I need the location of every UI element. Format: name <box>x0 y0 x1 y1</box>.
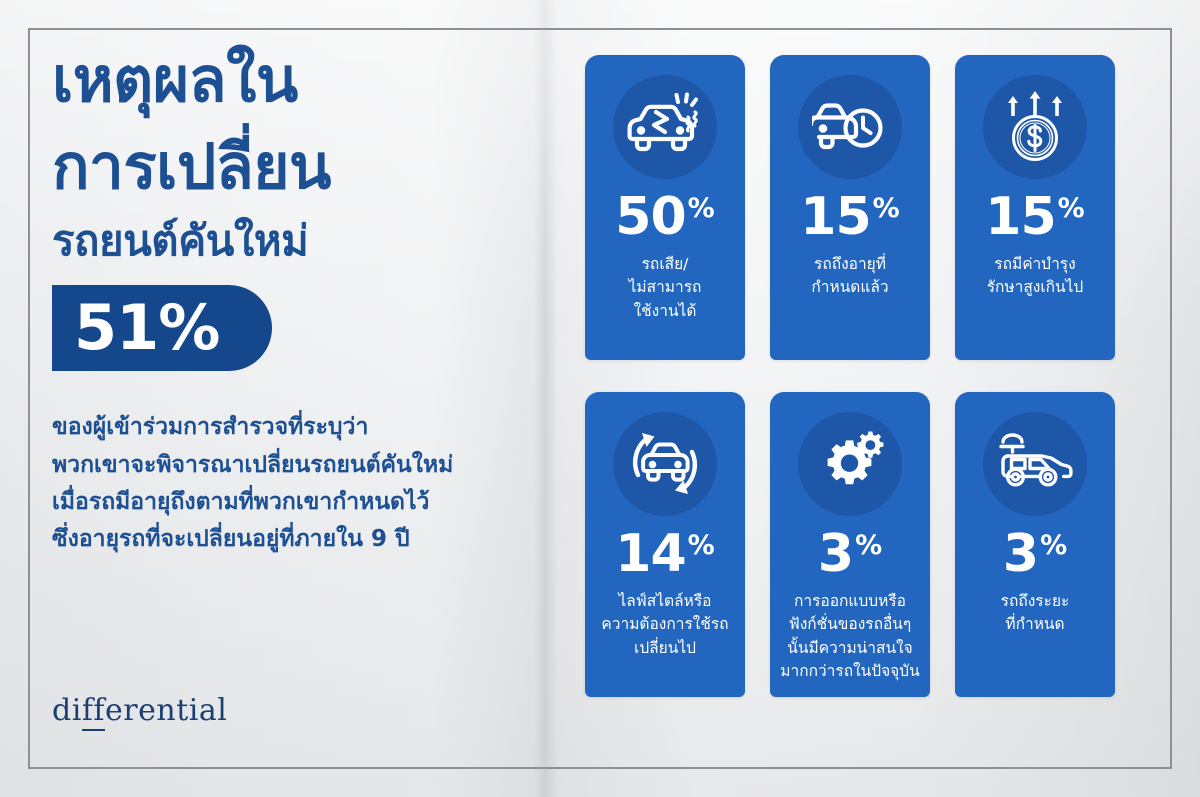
body-copy-line: พวกเขาจะพิจารณาเปลี่ยนรถยนต์คันใหม่ <box>52 447 522 484</box>
headline-line-1: เหตุผลใน <box>52 48 522 111</box>
stat-percent-symbol: % <box>1058 195 1085 222</box>
stat-caption: การออกแบบหรือ ฟังก์ชั่นของรถอื่นๆ นั้นมี… <box>774 590 925 683</box>
stat-caption: รถถึงอายุที่ กำหนดแล้ว <box>805 253 894 300</box>
body-copy-line: ซึ่งอายุรถที่จะเปลี่ยนอยู่ที่ภายใน 9 ปี <box>52 521 522 558</box>
caption-line: กำหนดแล้ว <box>811 276 888 299</box>
caption-line: รถถึงอายุที่ <box>811 253 888 276</box>
stat-number: 15 <box>985 191 1055 243</box>
stat-percent-symbol: % <box>1040 532 1067 559</box>
logo-part-pre: di <box>52 693 82 728</box>
stat-percent: 14 % <box>615 528 714 580</box>
caption-line: ที่กำหนด <box>1001 613 1070 636</box>
caption-line: นั้นมีความน่าสนใจ <box>780 637 919 660</box>
stat-card[interactable]: 15 % รถถึงอายุที่ กำหนดแล้ว <box>770 55 930 360</box>
caption-line: ใช้งานได้ <box>629 300 702 323</box>
logo-part-post: erential <box>105 693 227 728</box>
stat-percent-symbol: % <box>855 532 882 559</box>
brand-logo: differential <box>52 693 227 728</box>
body-copy-line: ของผู้เข้าร่วมการสำรวจที่ระบุว่า <box>52 409 522 446</box>
stat-caption: รถเสีย/ ไม่สามารถ ใช้งานได้ <box>623 253 708 323</box>
stat-percent-symbol: % <box>873 195 900 222</box>
stat-number: 14 <box>615 528 685 580</box>
headline-line-3: รถยนต์คันใหม่ <box>52 220 522 263</box>
stat-card[interactable]: 14 % ไลฟ์สไตล์หรือ ความต้องการใช้รถ เปลี… <box>585 392 745 697</box>
stat-caption: ไลฟ์สไตล์หรือ ความต้องการใช้รถ เปลี่ยนไป <box>595 590 734 660</box>
caption-line: รถเสีย/ <box>629 253 702 276</box>
caption-line: รักษาสูงเกินไป <box>987 276 1084 299</box>
caption-line: ไม่สามารถ <box>629 276 702 299</box>
stat-card[interactable]: 15 % รถมีค่าบำรุง รักษาสูงเกินไป <box>955 55 1115 360</box>
headline-stat-value: 51% <box>74 297 219 359</box>
caption-line: มากกว่ารถในปัจจุบัน <box>780 660 919 683</box>
stat-caption: รถมีค่าบำรุง รักษาสูงเกินไป <box>981 253 1090 300</box>
car-refresh-icon <box>613 412 717 516</box>
car-clock-icon <box>798 75 902 179</box>
headline-line-2: การเปลี่ยน <box>52 135 522 198</box>
stat-percent-symbol: % <box>688 532 715 559</box>
caption-line: ไลฟ์สไตล์หรือ <box>601 590 728 613</box>
caption-line: การออกแบบหรือ <box>780 590 919 613</box>
stat-number: 50 <box>615 191 685 243</box>
caption-line: รถถึงระยะ <box>1001 590 1070 613</box>
stat-percent: 50 % <box>615 191 714 243</box>
left-panel: เหตุผลใน การเปลี่ยน รถยนต์คันใหม่ 51% ขอ… <box>52 48 522 748</box>
stat-caption: รถถึงระยะ ที่กำหนด <box>995 590 1076 637</box>
stat-percent: 15 % <box>985 191 1084 243</box>
stat-card-grid: 50 % รถเสีย/ ไม่สามารถ ใช้งานได้ <box>585 55 1145 697</box>
logo-part-ff: ff <box>82 693 105 731</box>
stat-number: 3 <box>1003 528 1038 580</box>
stat-percent: 15 % <box>800 191 899 243</box>
caption-line: ฟังก์ชั่นของรถอื่นๆ <box>780 613 919 636</box>
stat-card[interactable]: 50 % รถเสีย/ ไม่สามารถ ใช้งานได้ <box>585 55 745 360</box>
gears-icon <box>798 412 902 516</box>
caption-line: รถมีค่าบำรุง <box>987 253 1084 276</box>
suv-icon <box>983 412 1087 516</box>
caption-line: เปลี่ยนไป <box>601 637 728 660</box>
stat-card[interactable]: 3 % การออกแบบหรือ ฟังก์ชั่นของรถอื่นๆ นั… <box>770 392 930 697</box>
stat-percent: 3 % <box>818 528 882 580</box>
body-copy: ของผู้เข้าร่วมการสำรวจที่ระบุว่า พวกเขาจ… <box>52 409 522 558</box>
stat-percent-symbol: % <box>688 195 715 222</box>
stat-card[interactable]: 3 % รถถึงระยะ ที่กำหนด <box>955 392 1115 697</box>
stat-number: 3 <box>818 528 853 580</box>
body-copy-line: เมื่อรถมีอายุถึงตามที่พวกเขากำหนดไว้ <box>52 484 522 521</box>
stat-percent: 3 % <box>1003 528 1067 580</box>
dollar-coin-rising-icon <box>983 75 1087 179</box>
stat-number: 15 <box>800 191 870 243</box>
broken-car-icon <box>613 75 717 179</box>
page-title: เหตุผลใน การเปลี่ยน รถยนต์คันใหม่ <box>52 48 522 263</box>
headline-stat-badge: 51% <box>52 285 272 371</box>
caption-line: ความต้องการใช้รถ <box>601 613 728 636</box>
